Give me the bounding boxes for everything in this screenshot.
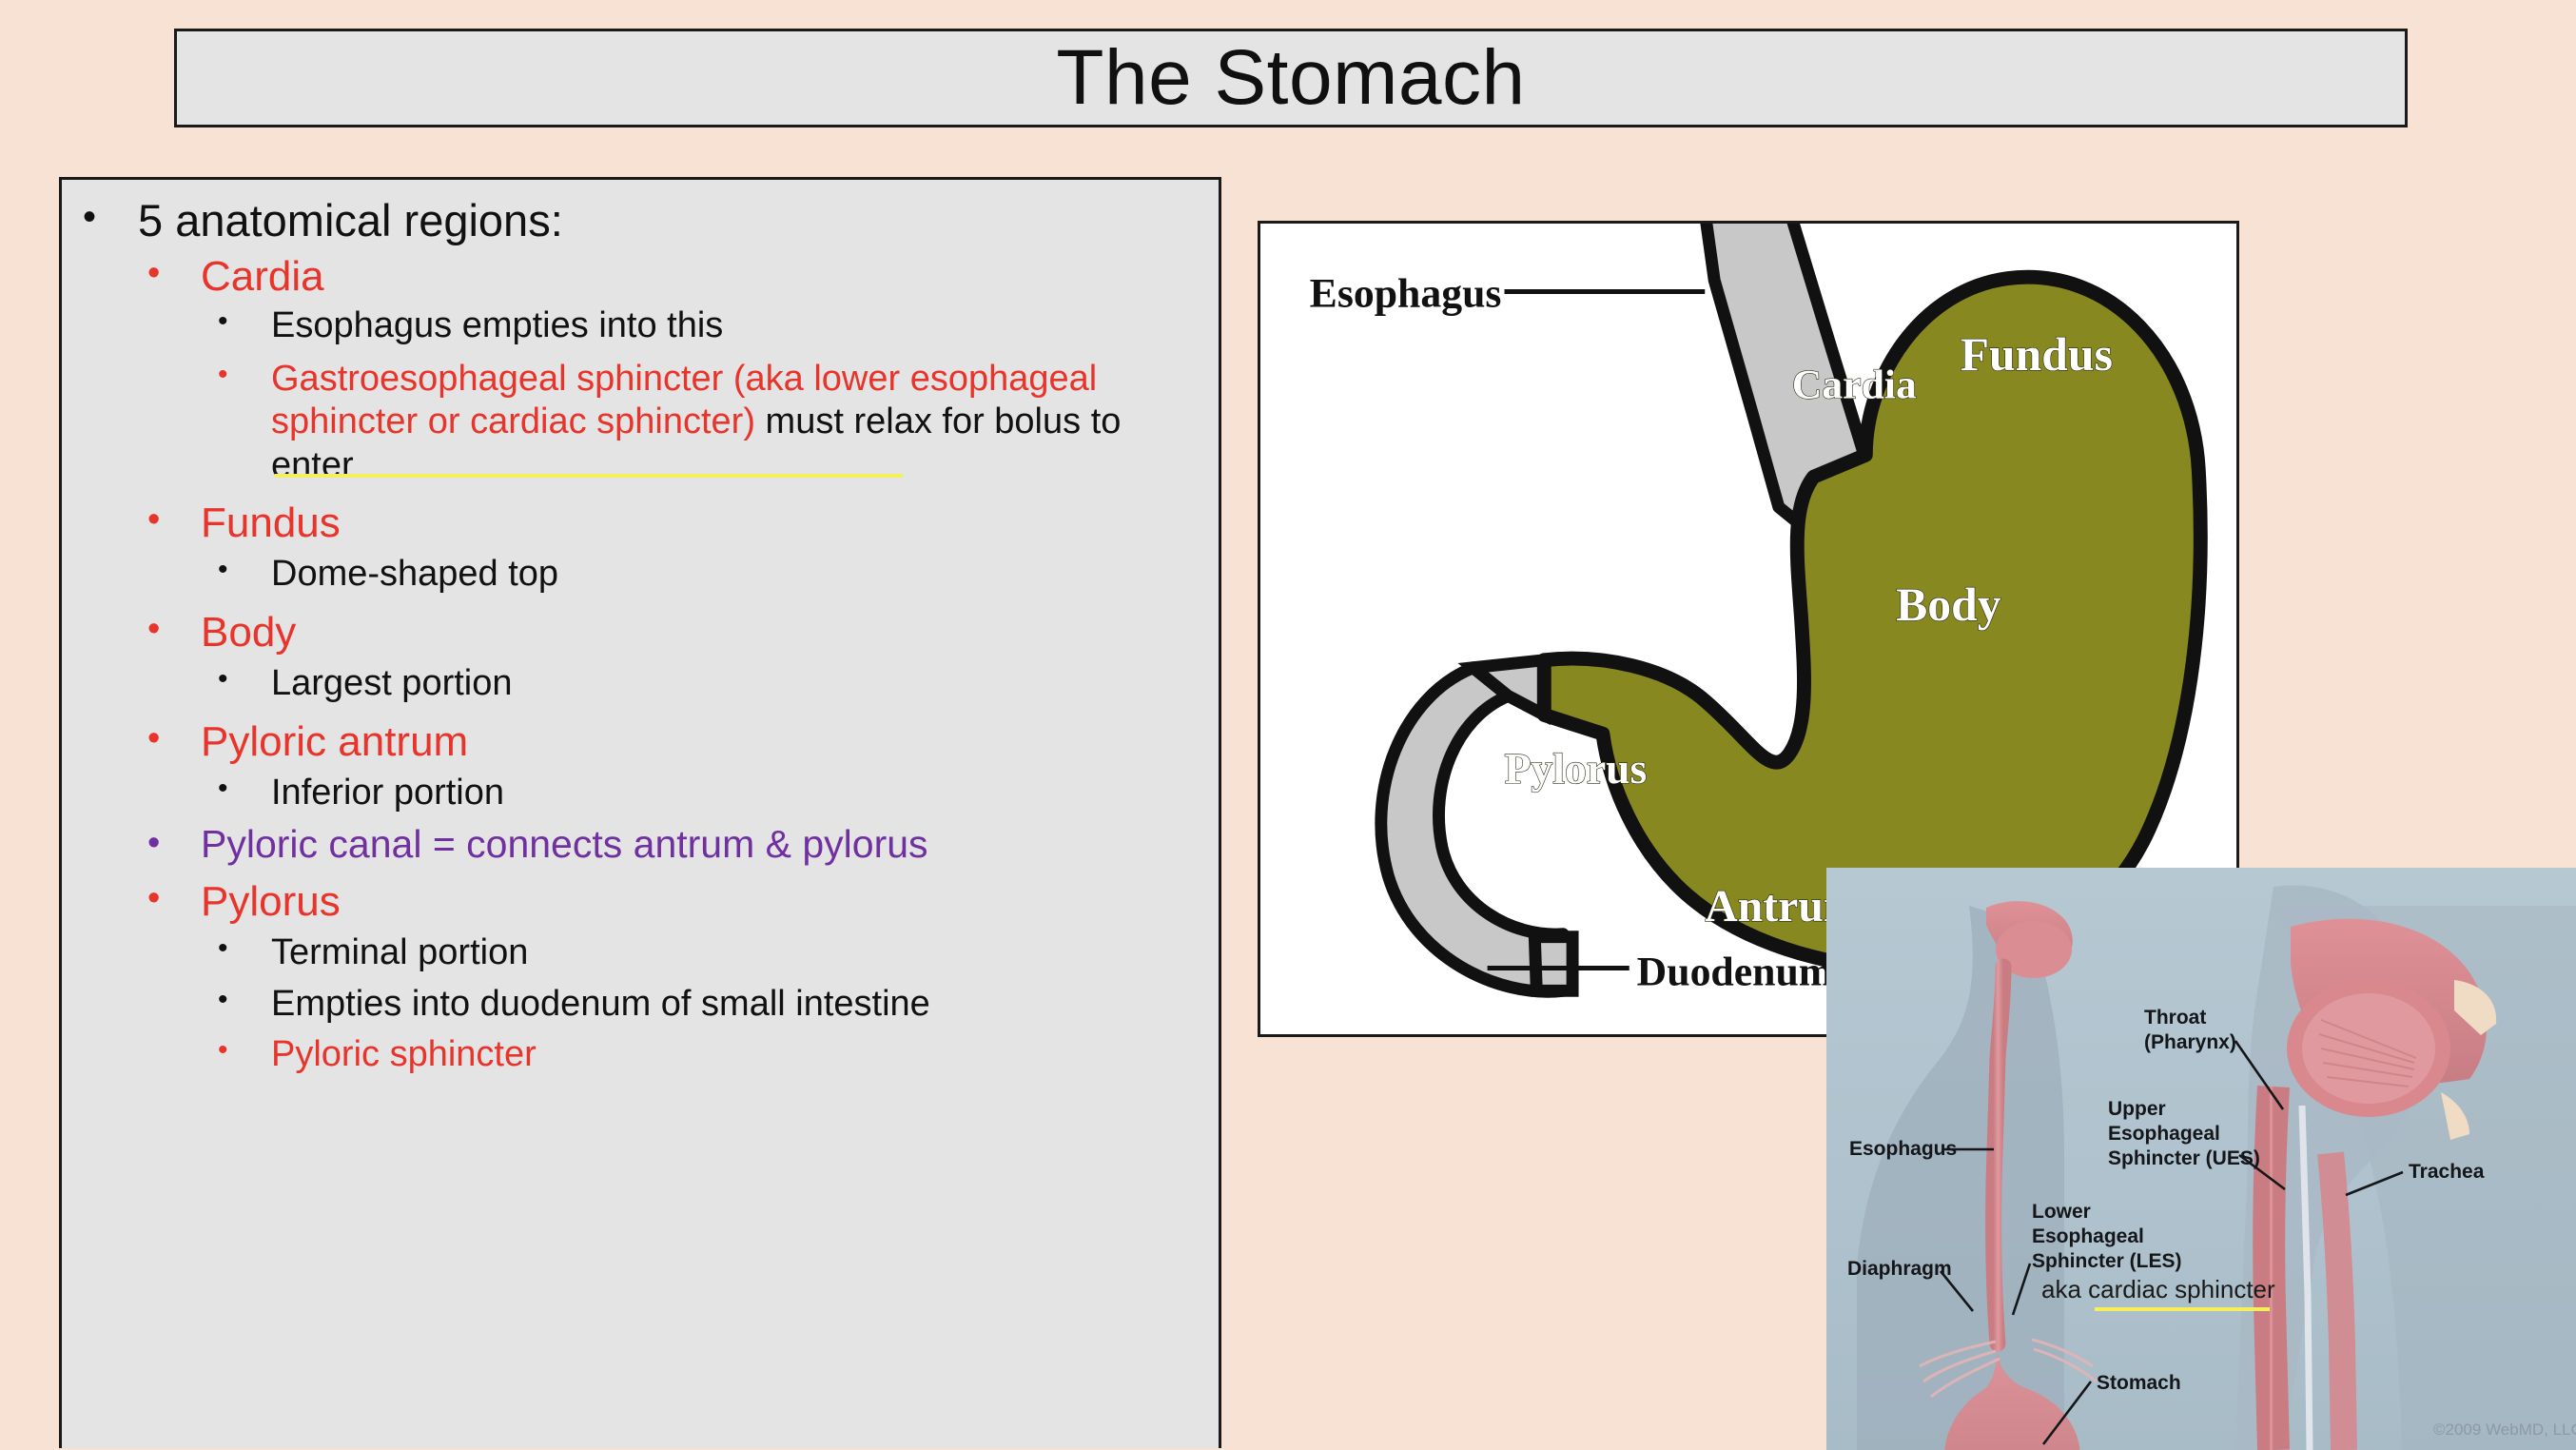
detail-empties-duodenum: Empties into duodenum of small intestine bbox=[271, 983, 1201, 1027]
region-label-pylorus: Pylorus bbox=[201, 877, 1201, 926]
diagram-label-duodenum: Duodenum bbox=[1637, 949, 1834, 994]
diagram-label-pylorus: Pylorus bbox=[1505, 744, 1648, 793]
list-item: • Terminal portion bbox=[218, 931, 1201, 975]
region-label-fundus: Fundus bbox=[201, 499, 1201, 547]
diagram-label-cardia: Cardia bbox=[1792, 362, 1917, 408]
list-item: • Inferior portion bbox=[218, 772, 1201, 815]
detail-esophagus-empties: Esophagus empties into this bbox=[271, 304, 1201, 348]
list-item: • Largest portion bbox=[218, 662, 1201, 706]
list-item: • Esophagus empties into this bbox=[218, 304, 1201, 348]
list-item: • Pylorus bbox=[147, 877, 1201, 926]
bullet-glyph: • bbox=[218, 553, 228, 587]
webmd-label-stomach: Stomach bbox=[2097, 1372, 2181, 1394]
aka-cardiac-sphincter-annotation: aka cardiac sphincter bbox=[2041, 1275, 2275, 1303]
yellow-highlight-underline bbox=[275, 474, 903, 478]
bullet-glyph: • bbox=[147, 717, 160, 759]
detail-inferior-portion: Inferior portion bbox=[271, 772, 1201, 815]
webmd-label-trachea: Trachea bbox=[2409, 1161, 2485, 1183]
list-item: • Empties into duodenum of small intesti… bbox=[218, 983, 1201, 1027]
list-item: • Gastroesophageal sphincter (aka lower … bbox=[218, 358, 1201, 488]
list-item: • Pyloric canal = connects antrum & pylo… bbox=[147, 822, 1201, 868]
webmd-label-les-line1: Lower bbox=[2032, 1201, 2091, 1223]
detail-terminal-portion: Terminal portion bbox=[271, 931, 1201, 975]
list-item: • Pyloric sphincter bbox=[218, 1033, 1201, 1077]
list-item: • 5 anatomical regions: bbox=[83, 195, 1201, 246]
diagram-label-body: Body bbox=[1896, 578, 2001, 631]
outline-list: • 5 anatomical regions: • Cardia • Esoph… bbox=[73, 195, 1201, 1077]
bullet-glyph: • bbox=[218, 772, 228, 806]
detail-largest-portion: Largest portion bbox=[271, 662, 1201, 706]
bullet-glyph: • bbox=[218, 931, 228, 966]
bullet-glyph: • bbox=[147, 252, 160, 294]
list-item: • Dome-shaped top bbox=[218, 553, 1201, 597]
detail-pyloric-sphincter: Pyloric sphincter bbox=[271, 1033, 1201, 1077]
region-label-body: Body bbox=[201, 608, 1201, 656]
webmd-label-les-line3: Sphincter (LES) bbox=[2032, 1250, 2182, 1272]
bullet-glyph: • bbox=[147, 499, 160, 540]
bullet-glyph: • bbox=[218, 983, 228, 1017]
webmd-label-esophagus: Esophagus bbox=[1849, 1138, 1957, 1160]
outline-root-label: 5 anatomical regions: bbox=[138, 195, 1201, 246]
slide-canvas: The Stomach • 5 anatomical regions: • Ca… bbox=[0, 0, 2576, 1450]
bullet-glyph: • bbox=[218, 304, 228, 339]
webmd-label-throat-sub: (Pharynx) bbox=[2144, 1031, 2236, 1053]
slide-title-box: The Stomach bbox=[174, 29, 2408, 127]
diagram-label-fundus: Fundus bbox=[1961, 328, 2113, 381]
bullet-glyph: • bbox=[147, 608, 160, 650]
bullet-glyph: • bbox=[147, 877, 160, 919]
region-label-pyloric-canal: Pyloric canal = connects antrum & pyloru… bbox=[201, 822, 1201, 868]
list-item: • Body bbox=[147, 608, 1201, 656]
webmd-copyright: ©2009 WebMD, LLC bbox=[2433, 1421, 2576, 1439]
webmd-label-ues-line2: Esophageal bbox=[2108, 1123, 2220, 1145]
detail-dome-shaped-top: Dome-shaped top bbox=[271, 553, 1201, 597]
list-item: • Fundus bbox=[147, 499, 1201, 547]
diagram-label-esophagus: Esophagus bbox=[1310, 270, 1502, 316]
webmd-label-diaphragm: Diaphragm bbox=[1847, 1258, 1952, 1280]
bullet-glyph: • bbox=[218, 358, 228, 392]
webmd-anatomy-image: Throat (Pharynx) Upper Esophageal Sphinc… bbox=[1826, 868, 2576, 1450]
webmd-label-ues-line1: Upper bbox=[2108, 1098, 2166, 1120]
bullet-glyph: • bbox=[83, 195, 96, 239]
list-item: • Pyloric antrum bbox=[147, 717, 1201, 766]
bullet-glyph: • bbox=[218, 1033, 228, 1068]
webmd-label-throat: Throat bbox=[2144, 1007, 2206, 1029]
webmd-label-les-line2: Esophageal bbox=[2032, 1225, 2144, 1247]
page-title: The Stomach bbox=[1056, 39, 1525, 117]
bullet-glyph: • bbox=[147, 822, 160, 864]
outline-content-box: • 5 anatomical regions: • Cardia • Esoph… bbox=[59, 177, 1221, 1448]
list-item: • Cardia bbox=[147, 252, 1201, 301]
detail-ges-sphincter: Gastroesophageal sphincter (aka lower es… bbox=[271, 358, 1201, 488]
region-label-pyloric-antrum: Pyloric antrum bbox=[201, 717, 1201, 766]
bullet-glyph: • bbox=[218, 662, 228, 696]
region-label-cardia: Cardia bbox=[201, 252, 1201, 301]
webmd-anatomy-svg: Throat (Pharynx) Upper Esophageal Sphinc… bbox=[1826, 868, 2576, 1450]
webmd-label-ues-line3: Sphincter (UES) bbox=[2108, 1147, 2260, 1169]
